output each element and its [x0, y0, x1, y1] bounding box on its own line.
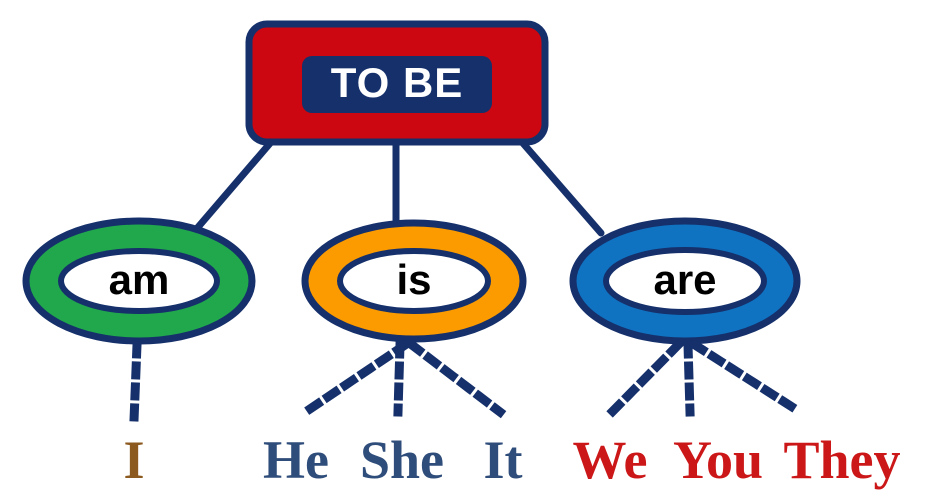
pronoun-i: I [123, 430, 144, 490]
to-be-tree-svg: TO BE am is are [0, 0, 939, 493]
verb-to-be-diagram: TO BE am is are [0, 0, 939, 493]
pronoun-it: It [484, 430, 523, 490]
connector-is-to-she [398, 345, 400, 412]
connector-tobe-to-am [193, 141, 272, 233]
pronoun-you: You [673, 430, 763, 490]
connector-is-to-it [412, 345, 500, 412]
connector-are-to-they [695, 345, 800, 412]
pronoun-she: She [360, 430, 444, 490]
form-node-am[interactable]: am [26, 221, 252, 341]
connector-are-to-we [611, 345, 678, 413]
connector-is-to-he [304, 345, 405, 413]
to-be-label: TO BE [331, 59, 464, 106]
to-be-node[interactable]: TO BE [249, 24, 545, 142]
pronoun-he: He [263, 430, 329, 490]
am-label: am [109, 256, 170, 303]
are-label: are [653, 256, 716, 303]
form-node-are[interactable]: are [573, 221, 797, 341]
connector-are-to-you [688, 345, 690, 412]
pronoun-we: We [573, 430, 648, 490]
dotted-connectors-group [134, 345, 800, 420]
pronoun-they: They [783, 430, 900, 490]
form-node-is[interactable]: is [305, 223, 523, 339]
is-label: is [396, 256, 431, 303]
connector-tobe-to-are [521, 141, 601, 233]
pronoun-row: I He She It We You They [123, 430, 900, 490]
connector-am-to-i [134, 345, 137, 420]
